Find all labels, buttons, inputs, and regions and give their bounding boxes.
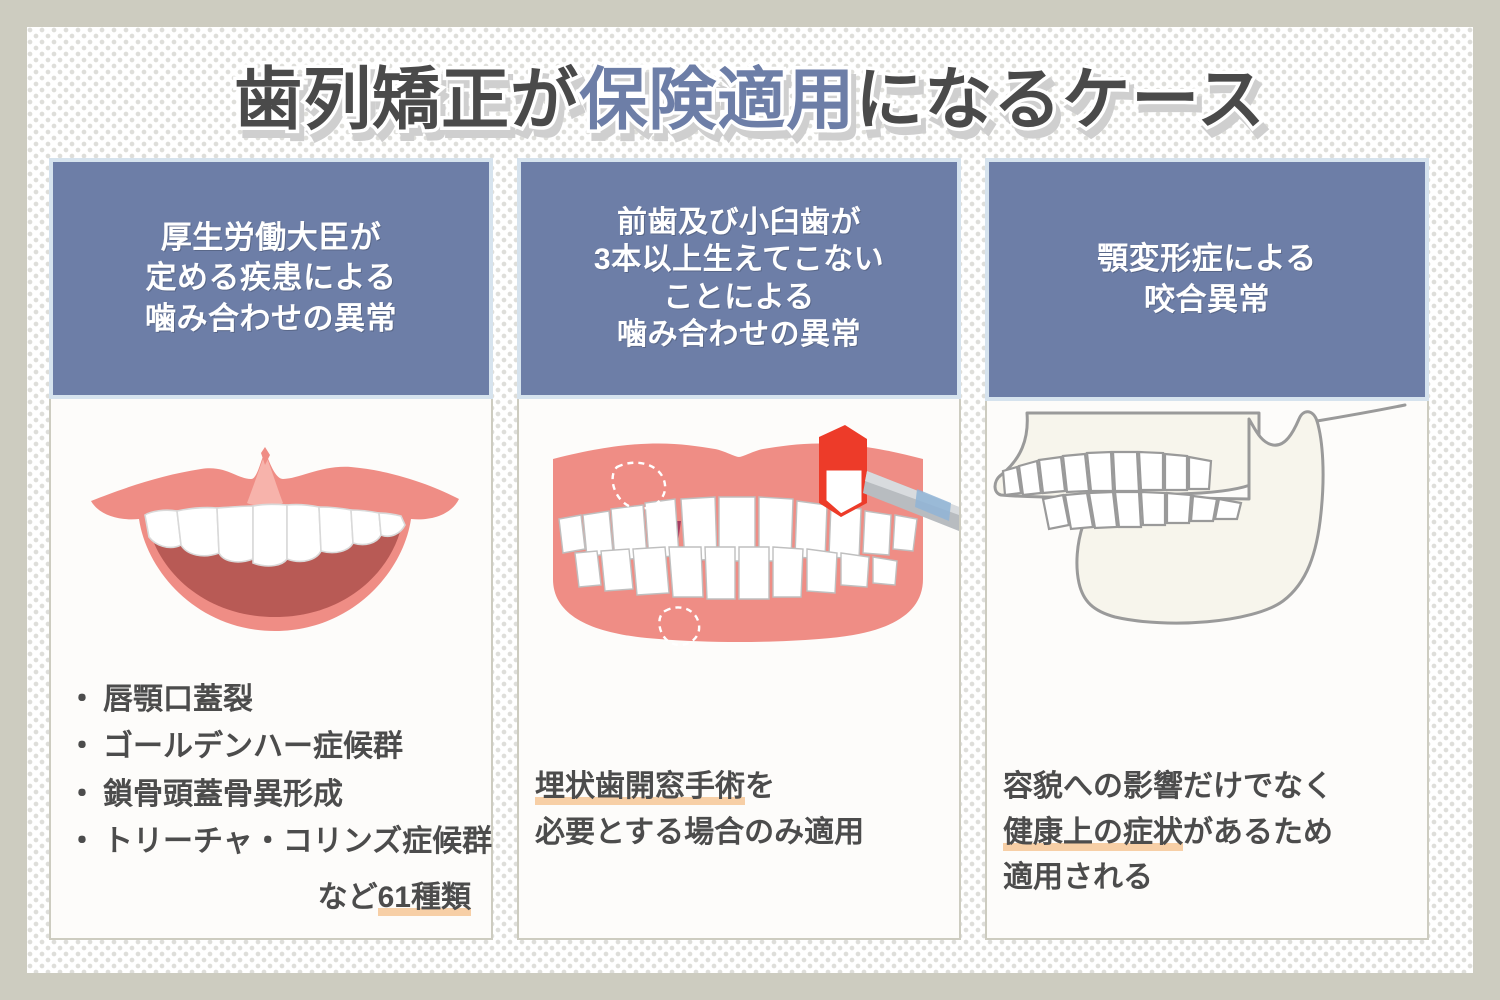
disease-count-note: など61種類 (67, 872, 475, 916)
card-1-header-line-2: 定める疾患による (145, 258, 397, 298)
page-title: 歯列矯正が保険適用になるケース (234, 65, 1266, 136)
card-1-header: 厚生労働大臣が 定める疾患による 噛み合わせの異常 (49, 158, 493, 399)
card-3-caption-line-1: 容貌への影響だけでなく (1003, 764, 1411, 810)
card-unerupted-teeth[interactable]: 前歯及び小臼歯が 3本以上生えてこない ことによる 噛み合わせの異常 (517, 158, 961, 940)
cleft-lip-mouth-illustration (51, 403, 491, 673)
card-1-header-line-1: 厚生労働大臣が (145, 218, 397, 258)
card-1-body: ・唇顎口蓋裂 ・ゴールデンハー症候群 ・鎖骨頭蓋骨異形成 ・トリーチャ・コリンズ… (51, 676, 491, 916)
dotted-background-panel: 歯列矯正が保険適用になるケース 厚生労働大臣が 定める疾患による 噛み合わせの異… (27, 27, 1473, 973)
bullet-marker: ・ (67, 730, 97, 763)
card-3-body: 容貌への影響だけでなく 健康上の症状があるため 適用される (987, 764, 1427, 901)
card-2-body: 埋状歯開窓手術を 必要とする場合のみ適用 (519, 764, 959, 855)
list-item: ・ゴールデンハー症候群 (67, 723, 475, 770)
caption-rest: があるため (1183, 816, 1333, 849)
cards-row: 厚生労働大臣が 定める疾患による 噛み合わせの異常 (27, 158, 1473, 940)
disease-bullet-list: ・唇顎口蓋裂 ・ゴールデンハー症候群 ・鎖骨頭蓋骨異形成 ・トリーチャ・コリンズ… (67, 676, 475, 866)
note-prefix: など (318, 881, 378, 914)
card-2-header-line-3: ことによる (594, 279, 884, 316)
caption-highlight: 埋状歯開窓手術 (535, 770, 745, 805)
bullet-label: 鎖骨頭蓋骨異形成 (103, 778, 343, 811)
poster-title-wrapper: 歯列矯正が保険適用になるケース (27, 65, 1473, 136)
bullet-marker: ・ (67, 778, 97, 811)
bullet-marker: ・ (67, 825, 97, 858)
list-item: ・トリーチャ・コリンズ症候群 (67, 818, 475, 865)
title-part-3: になるケース (855, 62, 1266, 138)
card-2-caption: 埋状歯開窓手術を 必要とする場合のみ適用 (535, 764, 943, 855)
card-3-caption: 容貌への影響だけでなく 健康上の症状があるため 適用される (1003, 764, 1411, 901)
card-3-header: 顎変形症による 咬合異常 (985, 158, 1429, 401)
caption-highlight: 健康上の症状 (1003, 816, 1183, 851)
card-3-header-line-2: 咬合異常 (1097, 280, 1317, 320)
bullet-label: 唇顎口蓋裂 (103, 683, 253, 716)
jaw-bone-side-view-illustration (987, 403, 1427, 673)
card-2-header-text: 前歯及び小臼歯が 3本以上生えてこない ことによる 噛み合わせの異常 (584, 204, 894, 353)
impacted-teeth-surgery-illustration (519, 403, 959, 673)
bullet-label: トリーチャ・コリンズ症候群 (103, 825, 492, 858)
card-1-header-text: 厚生労働大臣が 定める疾患による 噛み合わせの異常 (135, 218, 407, 339)
card-2-header: 前歯及び小臼歯が 3本以上生えてこない ことによる 噛み合わせの異常 (517, 158, 961, 399)
bullet-label: ゴールデンハー症候群 (103, 730, 403, 763)
card-2-header-line-1: 前歯及び小臼歯が (594, 204, 884, 241)
list-item: ・鎖骨頭蓋骨異形成 (67, 771, 475, 818)
card-3-header-line-1: 顎変形症による (1097, 239, 1317, 279)
card-2-caption-line-2: 必要とする場合のみ適用 (535, 810, 943, 856)
bullet-marker: ・ (67, 683, 97, 716)
caption-rest: を (745, 770, 775, 803)
card-2-caption-line-1: 埋状歯開窓手術を (535, 764, 943, 810)
title-part-highlight: 保険適用 (579, 62, 855, 138)
title-part-1: 歯列矯正が (234, 62, 579, 138)
card-2-header-line-4: 噛み合わせの異常 (594, 316, 884, 353)
card-1-header-line-3: 噛み合わせの異常 (145, 299, 397, 339)
infographic-poster: 歯列矯正が保険適用になるケース 厚生労働大臣が 定める疾患による 噛み合わせの異… (0, 0, 1500, 1000)
card-2-header-line-2: 3本以上生えてこない (594, 241, 884, 278)
card-3-caption-line-3: 適用される (1003, 855, 1411, 901)
card-ministry-disease[interactable]: 厚生労働大臣が 定める疾患による 噛み合わせの異常 (49, 158, 493, 940)
card-jaw-deformity[interactable]: 顎変形症による 咬合異常 (985, 158, 1429, 940)
card-3-header-text: 顎変形症による 咬合異常 (1087, 239, 1327, 320)
note-highlight: 61種類 (378, 881, 471, 916)
list-item: ・唇顎口蓋裂 (67, 676, 475, 723)
card-3-caption-line-2: 健康上の症状があるため (1003, 810, 1411, 856)
